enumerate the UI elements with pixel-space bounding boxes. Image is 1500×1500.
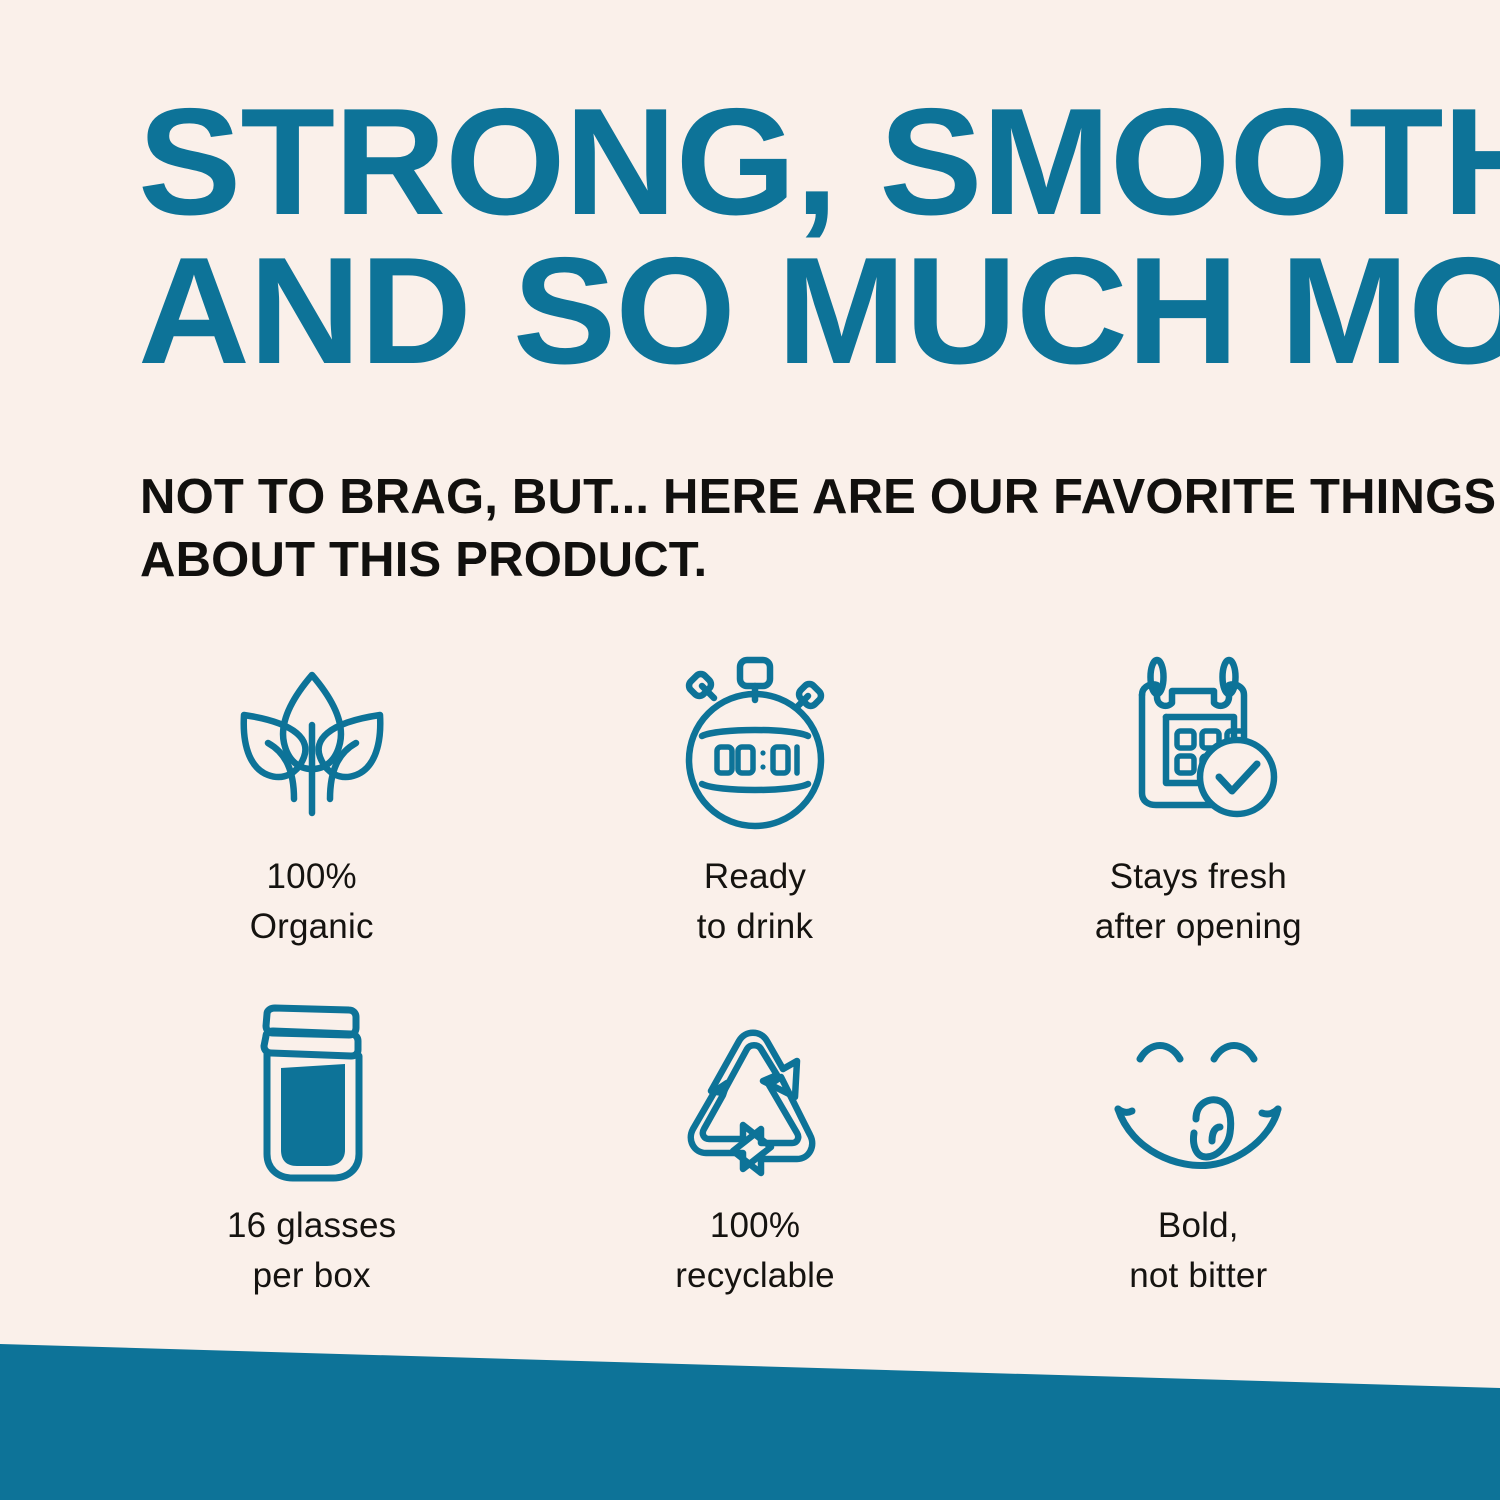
feature-caption-line-2: to drink [697, 902, 813, 952]
bottom-teal-banner [0, 1300, 1500, 1500]
feature-item-recyclable: 100% recyclable [533, 988, 976, 1328]
page-title: STRONG, SMOOTH AND SO MUCH MORE [138, 88, 1454, 386]
feature-grid: 100% Organic [90, 648, 1420, 1328]
feature-caption-line-2: per box [227, 1251, 396, 1301]
feature-caption: 100% Organic [250, 852, 374, 951]
feature-caption: 16 glasses per box [227, 1201, 396, 1300]
smiley-tongue-icon [1104, 1002, 1292, 1187]
feature-caption-line-1: Bold, [1129, 1201, 1267, 1251]
feature-caption-line-1: 16 glasses [227, 1201, 396, 1251]
feature-item-organic: 100% Organic [90, 648, 533, 988]
headline-line-2: AND SO MUCH MORE [138, 237, 1454, 386]
feature-caption-line-2: after opening [1095, 902, 1302, 952]
headline-line-1: STRONG, SMOOTH [138, 88, 1454, 237]
feature-caption: Ready to drink [697, 852, 813, 951]
subtitle-line-1: NOT TO BRAG, BUT... HERE ARE OUR FAVORIT… [140, 466, 1390, 529]
recycle-icon [665, 1002, 845, 1187]
infographic-page: STRONG, SMOOTH AND SO MUCH MORE NOT TO B… [0, 0, 1500, 1500]
leaf-plant-icon [222, 648, 402, 838]
subtitle: NOT TO BRAG, BUT... HERE ARE OUR FAVORIT… [140, 466, 1390, 591]
feature-caption: Bold, not bitter [1129, 1201, 1267, 1300]
feature-caption: 100% recyclable [675, 1201, 835, 1300]
feature-item-glasses-per-box: 16 glasses per box [90, 988, 533, 1328]
feature-caption-line-1: 100% [250, 852, 374, 902]
feature-caption-line-1: 100% [675, 1201, 835, 1251]
subtitle-line-2: ABOUT THIS PRODUCT. [140, 529, 1390, 592]
mason-jar-icon [237, 1002, 387, 1187]
stopwatch-icon [662, 648, 848, 838]
feature-caption-line-1: Ready [697, 852, 813, 902]
feature-item-ready-to-drink: Ready to drink [533, 648, 976, 988]
calendar-check-icon [1106, 648, 1290, 838]
feature-caption-line-1: Stays fresh [1095, 852, 1302, 902]
feature-item-bold-not-bitter: Bold, not bitter [977, 988, 1420, 1328]
feature-caption: Stays fresh after opening [1095, 852, 1302, 951]
feature-caption-line-2: Organic [250, 902, 374, 952]
feature-item-stays-fresh: Stays fresh after opening [977, 648, 1420, 988]
feature-caption-line-2: recyclable [675, 1251, 835, 1301]
feature-caption-line-2: not bitter [1129, 1251, 1267, 1301]
